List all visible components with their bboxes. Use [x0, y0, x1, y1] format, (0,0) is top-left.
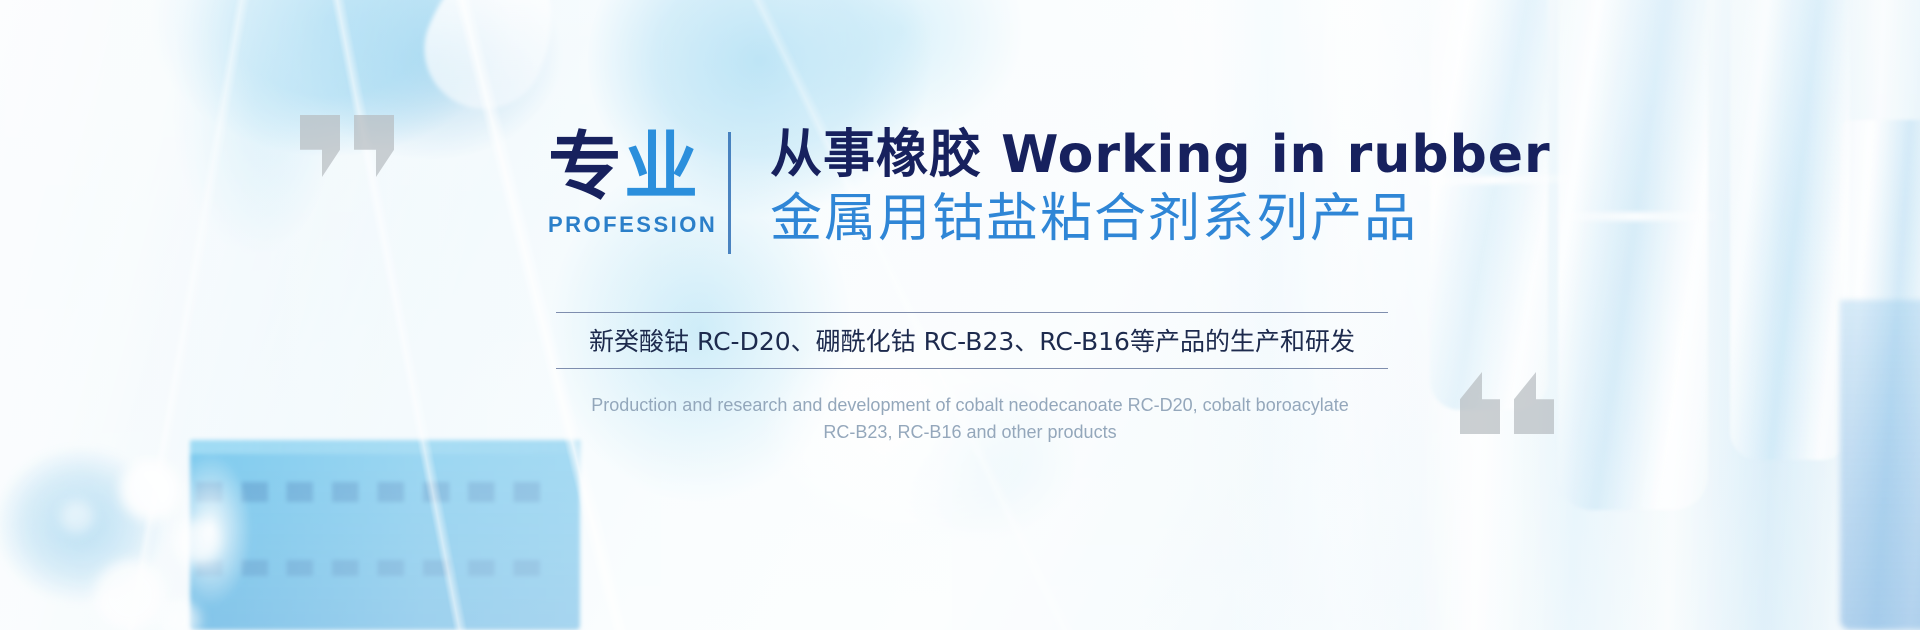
close-quote-glyph-left	[1460, 372, 1500, 434]
logo-char-zhuan: 专	[548, 124, 624, 210]
product-line: 新癸酸钴 RC-D20、硼酰化钴 RC-B23、RC-B16等产品的生产和研发	[556, 322, 1388, 362]
open-quote-glyph-right	[354, 115, 394, 177]
close-quote-icon	[1460, 372, 1554, 434]
headline-line-1: 从事橡胶 Working in rubber	[770, 124, 1551, 186]
divider-top	[556, 312, 1388, 313]
open-quote-glyph-left	[300, 115, 340, 177]
description-block: Production and research and development …	[530, 392, 1410, 446]
profession-logo: 专业 PROFESSION	[548, 128, 698, 238]
close-quote-glyph-right	[1514, 372, 1554, 434]
headline-line-2: 金属用钴盐粘合剂系列产品	[770, 188, 1551, 250]
banner-content: 专业 PROFESSION 从事橡胶 Working in rubber 金属用…	[0, 0, 1920, 630]
logo-english: PROFESSION	[548, 212, 698, 238]
open-quote-icon	[300, 115, 394, 177]
description-line-1: Production and research and development …	[530, 392, 1410, 419]
hero-banner: 专业 PROFESSION 从事橡胶 Working in rubber 金属用…	[0, 0, 1920, 630]
headline-block: 从事橡胶 Working in rubber 金属用钴盐粘合剂系列产品	[770, 124, 1551, 250]
vertical-divider	[728, 132, 731, 254]
divider-bottom	[556, 368, 1388, 369]
logo-chinese: 专业	[548, 128, 698, 206]
description-line-2: RC-B23, RC-B16 and other products	[530, 419, 1410, 446]
logo-char-ye: 业	[624, 124, 700, 210]
